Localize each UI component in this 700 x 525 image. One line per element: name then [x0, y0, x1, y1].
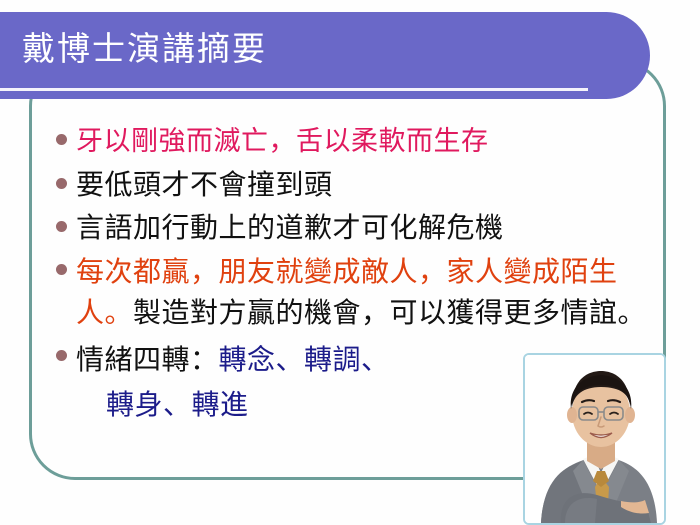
list-item: 言語加行動上的道歉才可化解危機: [48, 208, 648, 247]
text-segment: 要低頭才不會撞到頭: [76, 168, 333, 201]
list-item: 牙以剛強而滅亡，舌以柔軟而生存: [48, 122, 648, 161]
page-title: 戴博士演講摘要: [22, 27, 267, 71]
speaker-portrait-frame: [523, 353, 666, 525]
text-segment: 言語加行動上的道歉才可化解危機: [76, 211, 504, 244]
list-item-text: 要低頭才不會撞到頭: [76, 168, 333, 201]
bullet-marker-icon: [56, 178, 67, 189]
portrait-illustration: [525, 355, 664, 523]
list-item-text: 牙以剛強而滅亡，舌以柔軟而生存: [76, 126, 489, 157]
bullet-marker-icon: [56, 350, 67, 361]
text-segment: 牙以剛強而滅亡，舌以柔軟而生存: [76, 126, 489, 157]
speaker-portrait-photo: [525, 355, 664, 523]
title-underline-rule: [0, 88, 588, 91]
list-item: 要低頭才不會撞到頭: [48, 165, 648, 204]
text-segment: 轉念、轉調、: [219, 343, 390, 376]
slide-canvas: 戴博士演講摘要 牙以剛強而滅亡，舌以柔軟而生存 要低頭才不會撞到頭 言語加行動上…: [0, 0, 700, 525]
text-segment: 情緒四轉：: [76, 343, 219, 376]
list-item-text: 每次都贏，朋友就變成敵人，家人變成陌生人。製造對方贏的機會，可以獲得更多情誼。: [76, 255, 646, 329]
bullet-marker-icon: [56, 264, 67, 275]
bullet-marker-icon: [56, 221, 67, 232]
list-item: 每次都贏，朋友就變成敵人，家人變成陌生人。製造對方贏的機會，可以獲得更多情誼。: [48, 251, 648, 333]
text-segment: 製造對方贏的機會，可以獲得更多情誼。: [133, 296, 646, 329]
bullet-marker-icon: [56, 134, 67, 145]
list-item-text: 言語加行動上的道歉才可化解危機: [76, 211, 504, 244]
